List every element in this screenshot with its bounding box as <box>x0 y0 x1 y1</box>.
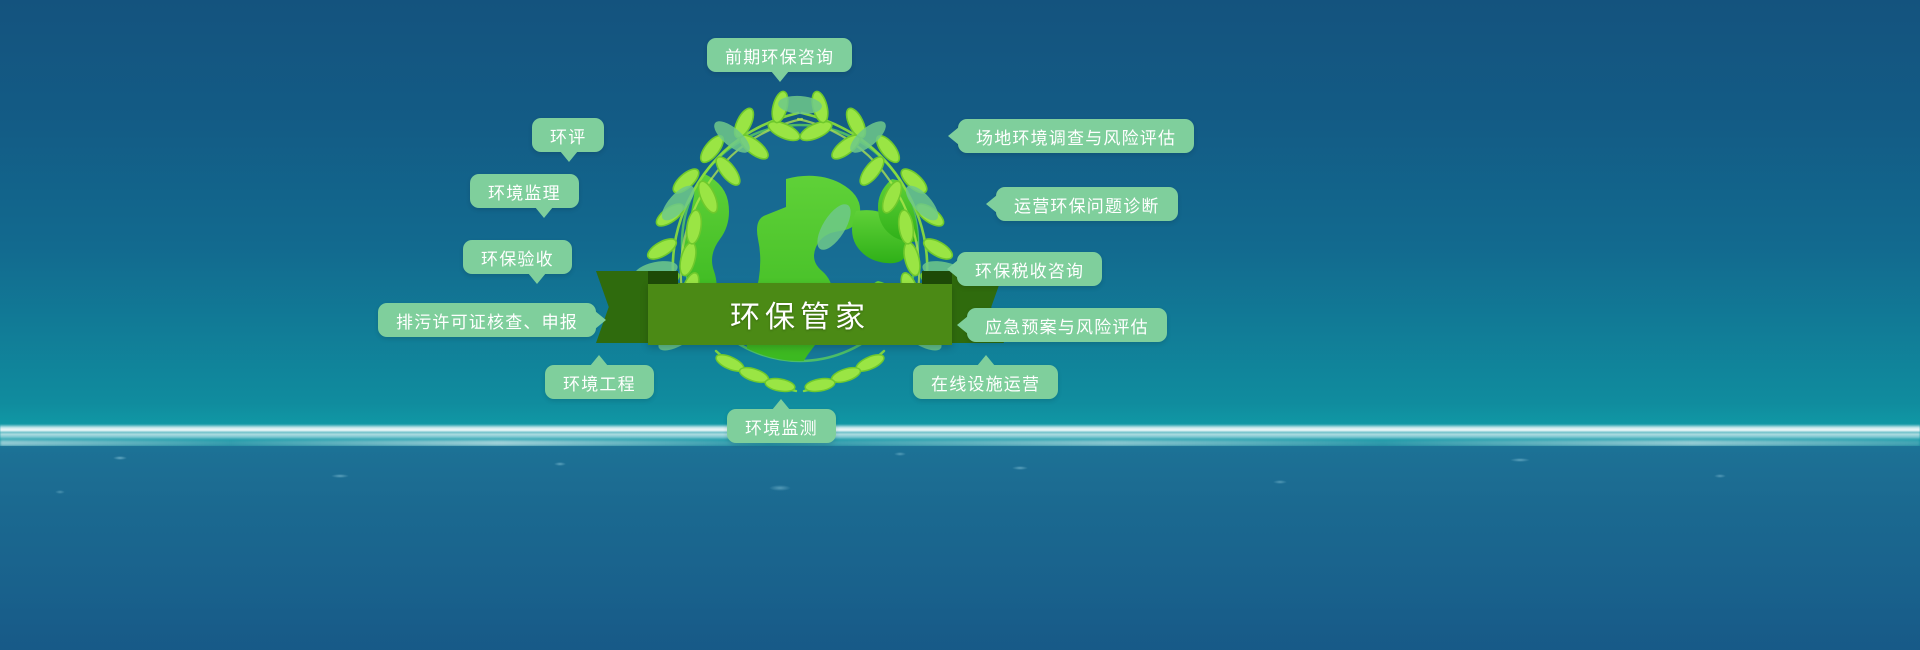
water-bubbles <box>0 446 1920 516</box>
service-label-eia[interactable]: 环评 <box>532 118 604 152</box>
service-label-env-tax-consult[interactable]: 环保税收咨询 <box>957 252 1102 286</box>
globe-icon <box>676 125 939 415</box>
service-label-site-survey[interactable]: 场地环境调查与风险评估 <box>958 119 1194 153</box>
service-label-pre-consult[interactable]: 前期环保咨询 <box>707 38 852 72</box>
page-title: 环保管家 <box>730 292 870 336</box>
emblem <box>620 75 980 415</box>
service-label-discharge-permit[interactable]: 排污许可证核查、申报 <box>378 303 596 337</box>
ribbon-band: 环保管家 <box>648 283 952 345</box>
service-label-online-ops[interactable]: 在线设施运营 <box>913 365 1058 399</box>
service-label-env-acceptance[interactable]: 环保验收 <box>463 240 572 274</box>
service-label-env-engineering[interactable]: 环境工程 <box>545 365 654 399</box>
water-foam-line-1 <box>0 424 1920 433</box>
service-label-env-supervision[interactable]: 环境监理 <box>470 174 579 208</box>
service-label-emergency-plan[interactable]: 应急预案与风险评估 <box>967 308 1167 342</box>
water-foam-line-2 <box>0 433 1920 440</box>
service-label-ops-diagnosis[interactable]: 运营环保问题诊断 <box>996 187 1178 221</box>
ribbon-fold-left <box>648 271 678 284</box>
center-ribbon: 环保管家 <box>648 283 952 345</box>
service-label-env-monitoring[interactable]: 环境监测 <box>727 409 836 443</box>
ribbon-tail-left <box>596 271 654 343</box>
hero-banner: 环保管家 前期环保咨询环评环境监理环保验收排污许可证核查、申报环境工程环境监测场… <box>0 0 1920 650</box>
